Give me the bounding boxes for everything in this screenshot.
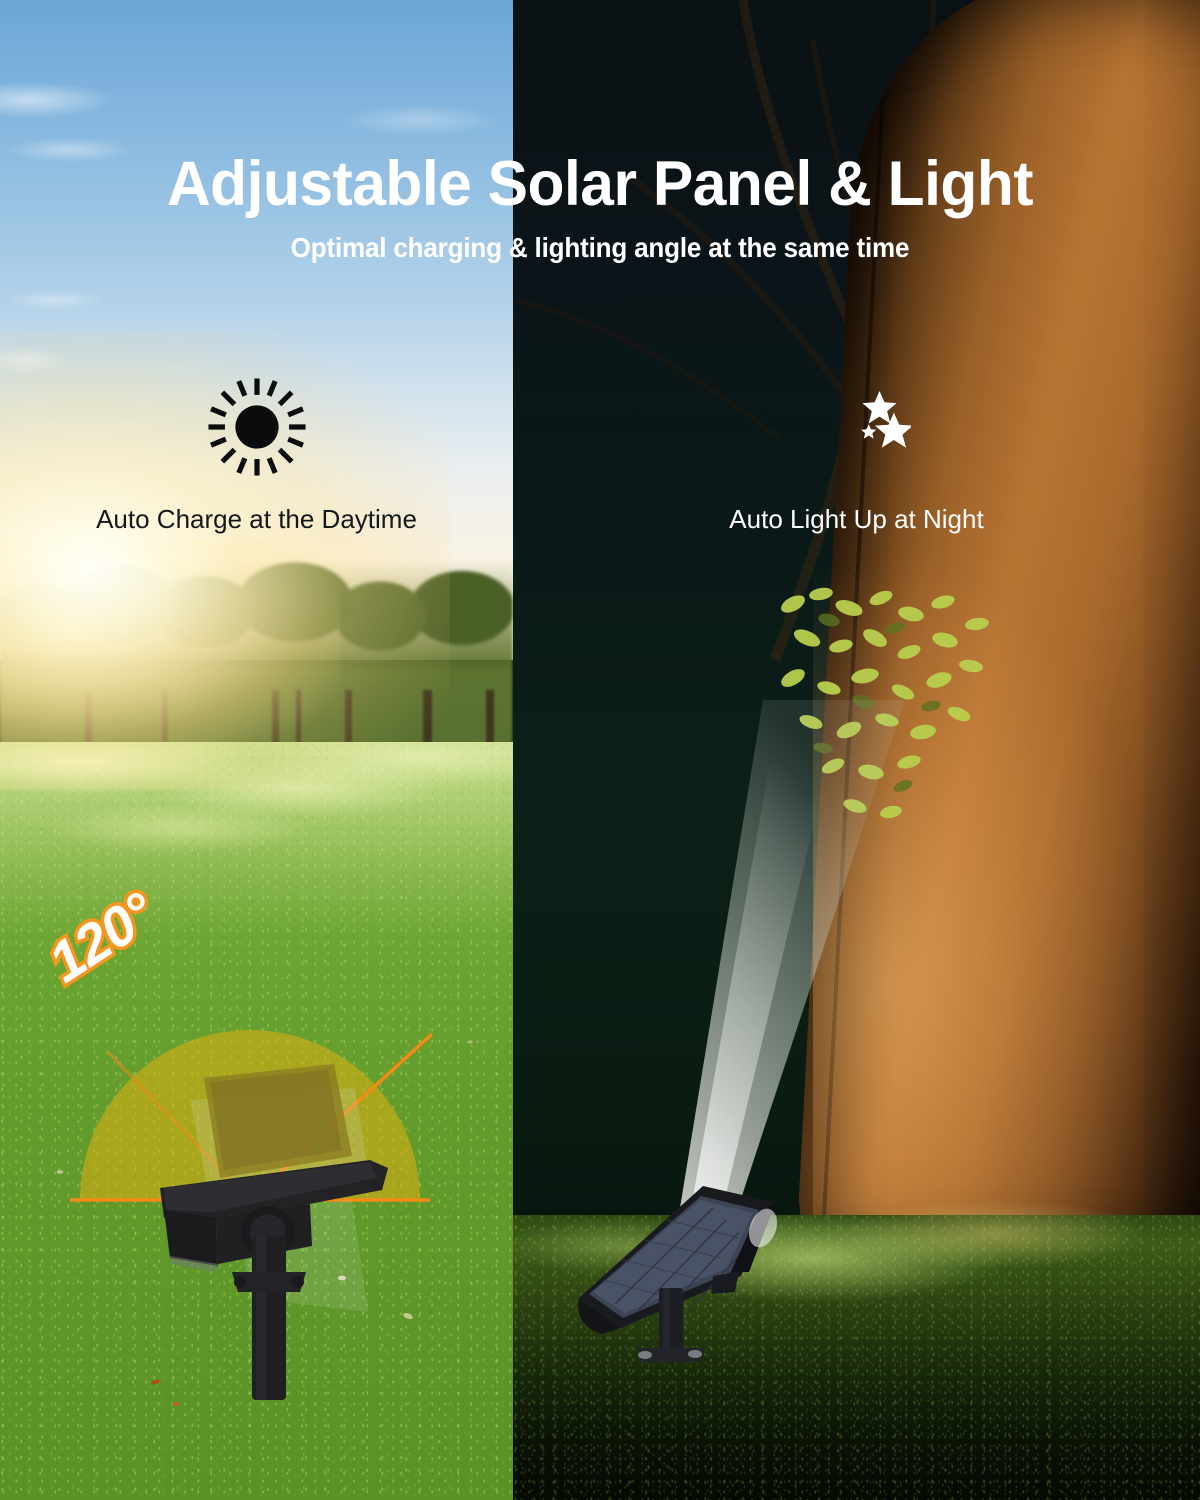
daytime-scene-panel <box>0 0 513 1500</box>
solar-spotlight-product-night <box>563 1180 823 1370</box>
feature-night: Auto Light Up at Night <box>513 372 1200 535</box>
solar-spotlight-product-day <box>120 1060 450 1400</box>
sun-icon <box>0 372 513 482</box>
page-title: Adjustable Solar Panel & Light <box>24 148 1176 220</box>
feature-daytime: Auto Charge at the Daytime <box>0 372 513 535</box>
night-scene-panel <box>513 0 1200 1500</box>
product-feature-image: Adjustable Solar Panel & Light Optimal c… <box>0 0 1200 1500</box>
feature-night-label: Auto Light Up at Night <box>513 504 1200 535</box>
feature-daytime-label: Auto Charge at the Daytime <box>0 504 513 535</box>
page-subtitle: Optimal charging & lighting angle at the… <box>42 232 1158 264</box>
moon-stars-icon <box>513 372 1200 482</box>
lit-leaf-canopy <box>763 580 1143 890</box>
